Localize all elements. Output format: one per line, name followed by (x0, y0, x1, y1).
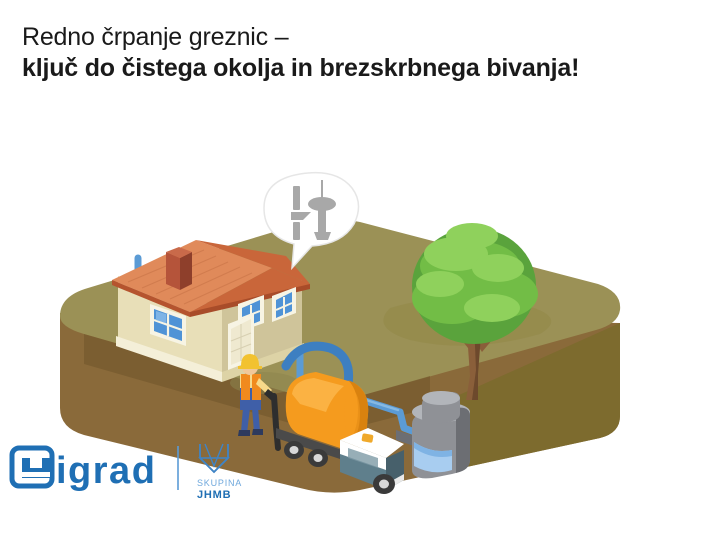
worker-helmet-brim (238, 366, 262, 369)
skupina-jhmb-logo[interactable]: SKUPINA JHMB (197, 444, 242, 501)
tree-foliage-light-2 (472, 254, 524, 282)
house-chimney-right (180, 252, 192, 290)
truck-tank-rear-ring (344, 390, 360, 438)
worker-boot-right (252, 429, 263, 435)
worker-boot-left (238, 430, 250, 436)
jhmb-mark-vee (205, 444, 223, 466)
heading-block: Redno črpanje greznic – ključ do čistega… (22, 22, 682, 84)
house-chimney (166, 252, 180, 290)
tree-foliage-light-4 (464, 294, 520, 322)
worker-suction-hose (274, 396, 278, 448)
slide-canvas: Redno črpanje greznic – ključ do čistega… (0, 0, 704, 544)
jhmb-label-jhmb: JHMB (197, 489, 231, 501)
worker-vest (241, 374, 250, 400)
nigrad-mark-slot (22, 472, 50, 477)
tree-foliage-light-5 (446, 223, 498, 249)
nigrad-wordmark: igrad (56, 450, 156, 492)
jhmb-label-skupina: SKUPINA (197, 478, 242, 488)
tree-foliage-light-3 (416, 271, 464, 297)
heading-line-1: Redno črpanje greznic – (22, 22, 682, 53)
heading-line-2: ključ do čistega okolja in brezskrbnega … (22, 53, 682, 84)
nigrad-logo[interactable]: igrad (12, 448, 156, 492)
footer-logos: igrad SKUPINA JHMB (8, 438, 268, 502)
tank-riser-cap (422, 391, 460, 405)
